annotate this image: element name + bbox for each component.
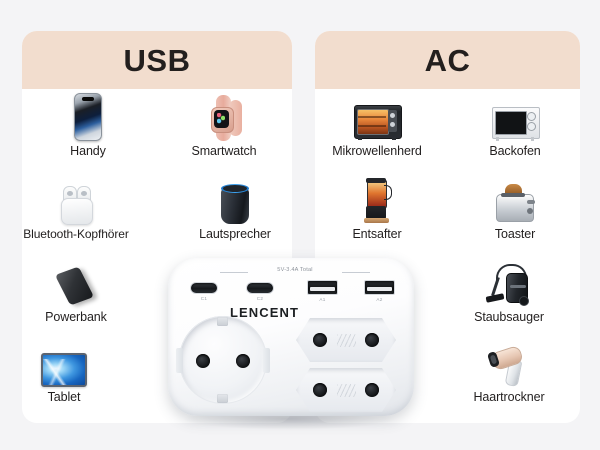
- usb-a-port-a2: A2: [364, 280, 395, 295]
- blender-icon: [362, 176, 392, 224]
- socket-emboss: [337, 384, 356, 397]
- device-item-powerbank: Powerbank: [22, 259, 142, 324]
- device-label: Powerbank: [45, 310, 107, 324]
- port-label: C2: [257, 296, 263, 301]
- countertop-oven-icon: [354, 93, 400, 141]
- port-label: A2: [376, 297, 382, 302]
- microwave-icon: [492, 93, 538, 141]
- spec-text: 5V-3.4A Total: [277, 267, 312, 273]
- device-item-handy: Handy: [22, 93, 154, 158]
- usb-c-port-c1: C1: [190, 282, 218, 294]
- device-item-lautsprecher: Lautsprecher: [169, 176, 292, 241]
- schuko-notch-left: [176, 348, 183, 373]
- device-item-mikrowellenherd: Mikrowellenherd: [315, 93, 443, 158]
- device-item-entsafter: Entsafter: [315, 176, 443, 241]
- vacuum-cleaner-icon: [486, 259, 532, 307]
- socket-pin-hole: [196, 354, 210, 368]
- socket-emboss: [337, 334, 356, 347]
- power-spec: 5V-3.4A Total: [220, 267, 370, 277]
- euro-socket: [296, 368, 396, 412]
- ac-card-header: AC: [315, 31, 580, 89]
- ac-card-title: AC: [425, 45, 471, 76]
- socket-pin-hole: [313, 333, 327, 347]
- device-item-tablet: Tablet: [22, 339, 130, 404]
- port-label: C1: [201, 296, 207, 301]
- schuko-socket: [179, 316, 267, 404]
- device-item-staubsauger: Staubsauger: [443, 259, 575, 324]
- toaster-icon: [494, 176, 536, 224]
- device-label: Toaster: [495, 227, 535, 241]
- port-label: A1: [319, 297, 325, 302]
- schuko-earth-clip-bottom: [217, 394, 228, 403]
- usb-a-port-a1: A1: [307, 280, 338, 295]
- device-label: Lautsprecher: [199, 227, 271, 241]
- device-label: Entsafter: [352, 227, 401, 241]
- smartwatch-icon: [204, 93, 244, 141]
- device-label: Mikrowellenherd: [332, 144, 422, 158]
- device-item-bluetooth-kopfhoerer: Bluetooth-Kopfhörer: [22, 176, 142, 241]
- euro-socket: [296, 318, 396, 362]
- infographic-stage: USB Handy Smartwatch: [0, 0, 600, 450]
- device-item-backofen: Backofen: [449, 93, 580, 158]
- socket-pin-hole: [365, 383, 379, 397]
- tablet-icon: [41, 339, 87, 387]
- earbuds-icon: [55, 176, 97, 224]
- schuko-earth-clip-top: [217, 317, 228, 326]
- device-label: Backofen: [489, 144, 540, 158]
- socket-pin-hole: [365, 333, 379, 347]
- spec-rule-left: [220, 272, 248, 273]
- usb-card-title: USB: [124, 45, 191, 76]
- usb-c-port-c2: C2: [246, 282, 274, 294]
- spec-rule-right: [342, 272, 370, 273]
- product-photo-socket-adapter: 5V-3.4A Total C1 C2 A1 A2 LENCENT: [168, 258, 414, 423]
- socket-pin-hole: [236, 354, 250, 368]
- powerbank-icon: [56, 259, 96, 307]
- socket-pin-hole: [313, 383, 327, 397]
- device-label: Smartwatch: [192, 144, 257, 158]
- device-item-haartrockner: Haartrockner: [443, 339, 575, 404]
- adapter-housing: 5V-3.4A Total C1 C2 A1 A2 LENCENT: [168, 258, 414, 416]
- device-label: Tablet: [48, 390, 81, 404]
- smartphone-icon: [74, 93, 102, 141]
- device-item-smartwatch: Smartwatch: [158, 93, 290, 158]
- brand-logo-text: LENCENT: [230, 305, 299, 320]
- schuko-notch-right: [263, 348, 270, 373]
- device-label: Handy: [70, 144, 106, 158]
- smart-speaker-icon: [221, 176, 249, 224]
- device-label: Staubsauger: [474, 310, 544, 324]
- device-item-toaster: Toaster: [449, 176, 580, 241]
- device-label: Bluetooth-Kopfhörer: [23, 227, 129, 241]
- hair-dryer-icon: [488, 339, 530, 387]
- device-label: Haartrockner: [473, 390, 544, 404]
- usb-card-header: USB: [22, 31, 292, 89]
